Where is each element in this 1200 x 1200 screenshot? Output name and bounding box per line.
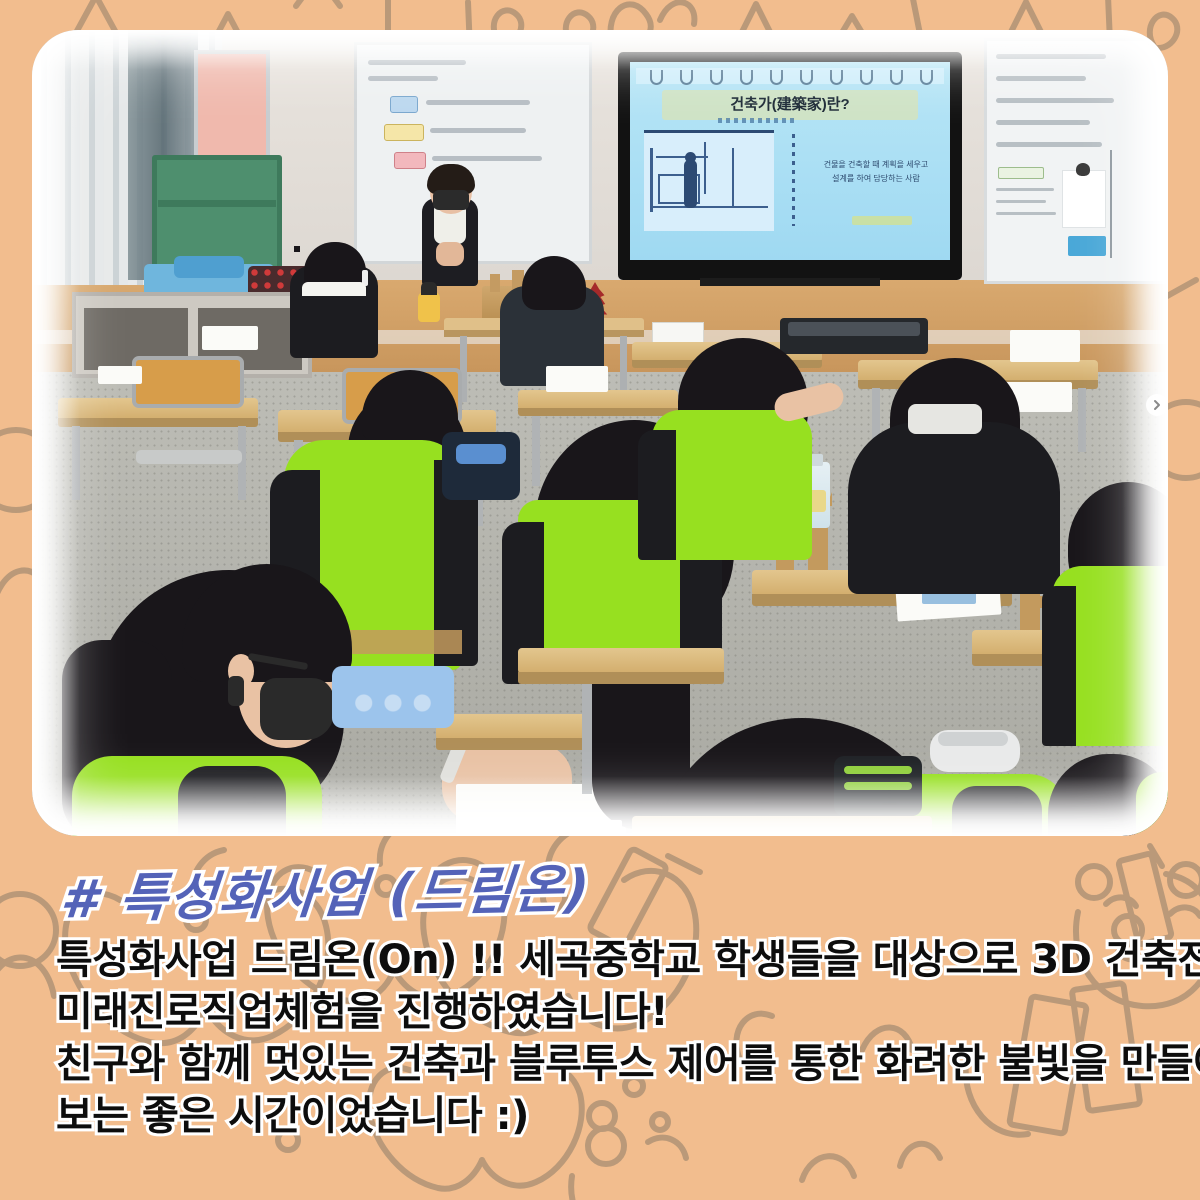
slide-divider bbox=[792, 134, 795, 226]
blue-bag bbox=[174, 256, 244, 278]
whiteboard-label bbox=[998, 167, 1044, 179]
whiteboard-magnet bbox=[1076, 163, 1090, 176]
marker-tray bbox=[1068, 236, 1106, 256]
classroom-photo: 건축가(建築家)란? 건물을 건축할 때 계획을 세우고 설계를 하여 담당하는… bbox=[32, 30, 1168, 836]
slide-title-underline bbox=[718, 118, 794, 123]
slide-accent-bar bbox=[852, 216, 912, 225]
whiteboard-table bbox=[1110, 150, 1168, 258]
teacher-hands bbox=[436, 242, 464, 266]
caption-line-1: 특성화사업 드림온(On) !! 세곡중학교 학생들을 대상으로 3D 건축전문… bbox=[56, 934, 1156, 986]
photo-scene: 건축가(建築家)란? 건물을 건축할 때 계획을 세우고 설계를 하여 담당하는… bbox=[32, 30, 1168, 836]
hashtag-title: # 특성화사업 (드림온) bbox=[58, 846, 594, 932]
caption-line-2: 미래진로직업체험을 진행하였습니다! bbox=[56, 986, 1156, 1038]
caption-line-4: 보는 좋은 시간이었습니다 :) bbox=[56, 1090, 1156, 1142]
projector-stand bbox=[700, 278, 880, 286]
caption-line-3: 친구와 함께 멋있는 건축과 블루투스 제어를 통한 화려한 불빛을 만들어 bbox=[56, 1038, 1156, 1090]
slide-description: 건물을 건축할 때 계획을 세우고 설계를 하여 담당하는 사람 bbox=[820, 158, 932, 202]
teacher-mask bbox=[433, 190, 469, 210]
cabinet-shelf bbox=[158, 200, 276, 207]
chevron-right-icon[interactable] bbox=[1146, 394, 1168, 416]
lamp-shade bbox=[421, 282, 437, 295]
whiteboard-posted-paper bbox=[1062, 170, 1106, 228]
caption-body: 특성화사업 드림온(On) !! 세곡중학교 학생들을 대상으로 3D 건축전문… bbox=[56, 934, 1156, 1142]
caption-block: # 특성화사업 (드림온) 특성화사업 드림온(On) !! 세곡중학교 학생들… bbox=[0, 836, 1200, 1200]
desk-lamp bbox=[418, 292, 440, 322]
slide-title: 건축가(建築家)란? bbox=[662, 92, 918, 118]
slide-architect-figure bbox=[684, 160, 697, 208]
slide-architect-head bbox=[685, 152, 696, 163]
